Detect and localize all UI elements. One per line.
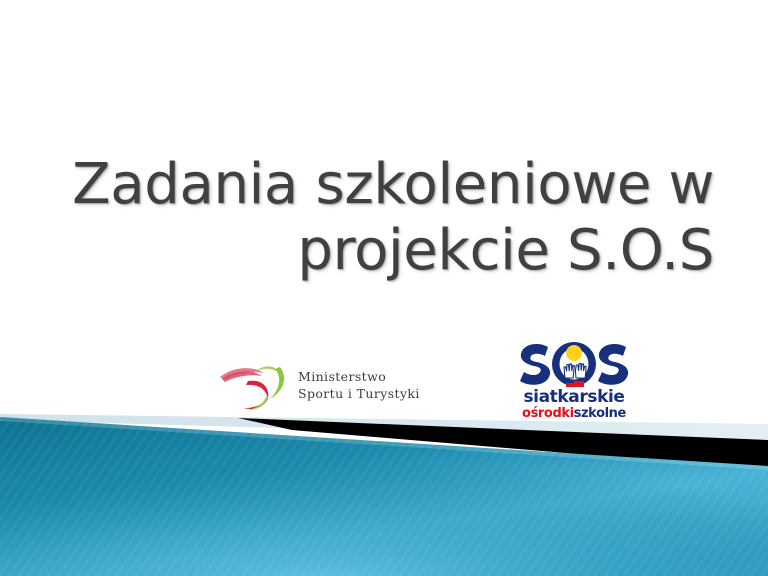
teal-texture: [0, 417, 768, 576]
teal-top-highlight: [0, 417, 768, 470]
pale-blue-band: [0, 414, 768, 442]
sos-line-siatkarskie: siatkarskie: [518, 389, 630, 406]
teal-glow: [0, 417, 768, 576]
ministry-logo: Ministerstwo Sportu i Turystyki: [218, 356, 433, 414]
ministry-line-1: Ministerstwo: [298, 368, 420, 385]
sos-line-osrodki-szkolne: ośrodkiszkolne: [518, 407, 630, 421]
ministry-logo-text: Ministerstwo Sportu i Turystyki: [298, 368, 420, 402]
page-title: Zadania szkoleniowe w projekcie S.O.S: [64, 152, 714, 284]
teal-shape: [0, 417, 768, 576]
slide-decoration: [0, 0, 768, 576]
ministry-swoosh-icon: [218, 357, 290, 413]
black-wedge: [238, 418, 768, 470]
slide-canvas: Zadania szkoleniowe w projekcie S.O.S Mi…: [0, 0, 768, 576]
title-line-1: Zadania szkoleniowe w: [64, 152, 714, 218]
sos-ball: [566, 345, 582, 361]
sos-word-osrodki: ośrodki: [522, 406, 574, 421]
sos-logo: siatkarskie ośrodkiszkolne: [518, 340, 630, 418]
ministry-line-2: Sportu i Turystyki: [298, 385, 420, 402]
sos-word-szkolne: szkolne: [574, 406, 626, 421]
title-line-2: projekcie S.O.S: [64, 218, 714, 284]
sos-acronym-icon: [518, 340, 630, 388]
